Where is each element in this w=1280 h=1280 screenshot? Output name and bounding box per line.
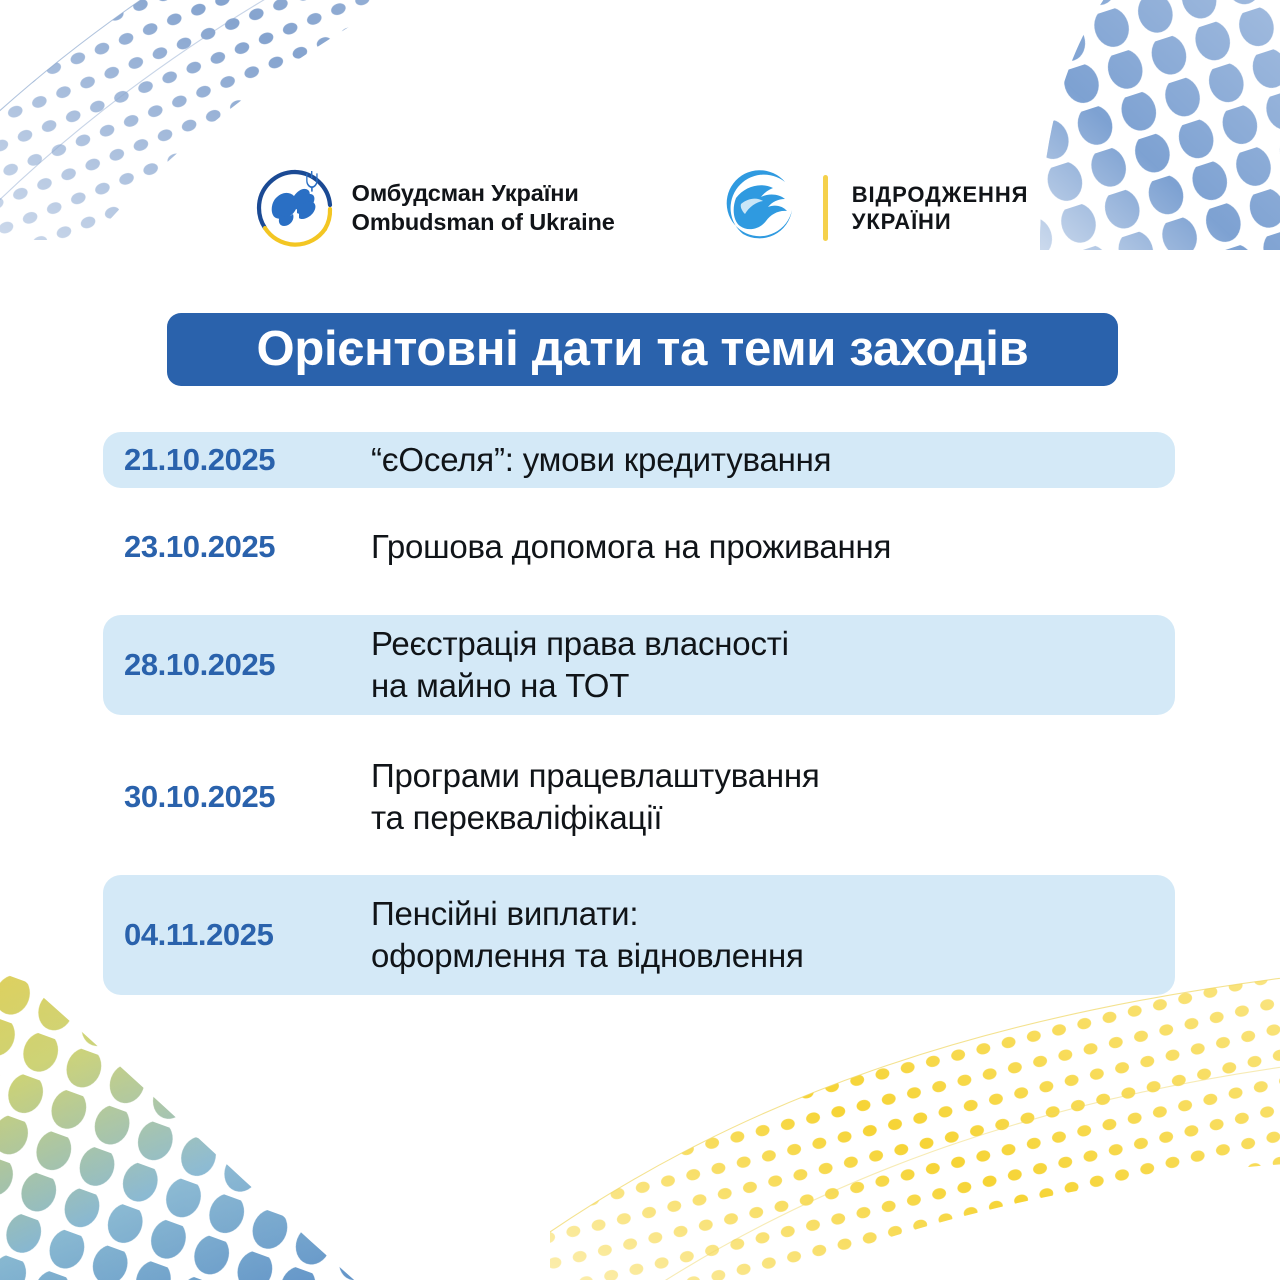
page-title: Орієнтовні дати та теми заходів [257,325,1029,374]
poster-canvas: Омбудсман України Ombudsman of Ukraine В… [0,0,1280,1280]
schedule-row-topic: Пенсійні виплати: оформлення та відновле… [371,893,1175,977]
schedule-row: 28.10.2025 Реєстрація права власності на… [103,615,1175,715]
schedule-row-date: 23.10.2025 [103,529,371,565]
schedule-row-date: 30.10.2025 [103,779,371,815]
logo-ombudsman-words: Омбудсман України Ombudsman of Ukraine [352,179,615,237]
logo-vertical-divider [823,175,828,241]
schedule-row-date: 28.10.2025 [103,647,371,683]
logo-vidrodzhennya-words: ВІДРОДЖЕННЯ УКРАЇНИ [852,181,1029,235]
schedule-row-topic: Грошова допомога на проживання [371,526,1175,568]
schedule-row: 30.10.2025 Програми працевлаштування та … [103,749,1175,845]
schedule-row: 04.11.2025 Пенсійні виплати: оформлення … [103,875,1175,995]
schedule-row: 21.10.2025 “єОселя”: умови кредитування [103,432,1175,488]
schedule-row: 23.10.2025 Грошова допомога на проживанн… [103,519,1175,575]
logo-ombudsman-line1: Омбудсман України [352,179,615,208]
logo-vidrodzhennya: ВІДРОДЖЕННЯ УКРАЇНИ [723,168,1029,248]
schedule-row-topic: Програми працевлаштування та перекваліфі… [371,755,1175,839]
ombudsman-dove-circle-logo-icon [252,165,338,251]
schedule-list: 21.10.2025 “єОселя”: умови кредитування … [103,432,1175,995]
schedule-row-topic: “єОселя”: умови кредитування [371,439,1175,481]
phoenix-bird-circle-logo-icon [723,168,803,248]
schedule-row-date: 21.10.2025 [103,442,371,478]
page-title-banner: Орієнтовні дати та теми заходів [167,313,1118,386]
header-logo-bar: Омбудсман України Ombudsman of Ukraine В… [0,158,1280,258]
schedule-row-topic: Реєстрація права власності на майно на Т… [371,623,1175,707]
schedule-row-date: 04.11.2025 [103,917,371,953]
logo-ombudsman: Омбудсман України Ombudsman of Ukraine [252,165,615,251]
logo-ombudsman-line2: Ombudsman of Ukraine [352,208,615,237]
halftone-dot-wave-yellow-bottom-right-icon [550,960,1280,1280]
logo-vidrodzhennya-line1: ВІДРОДЖЕННЯ [852,181,1029,208]
logo-vidrodzhennya-line2: УКРАЇНИ [852,208,1029,235]
